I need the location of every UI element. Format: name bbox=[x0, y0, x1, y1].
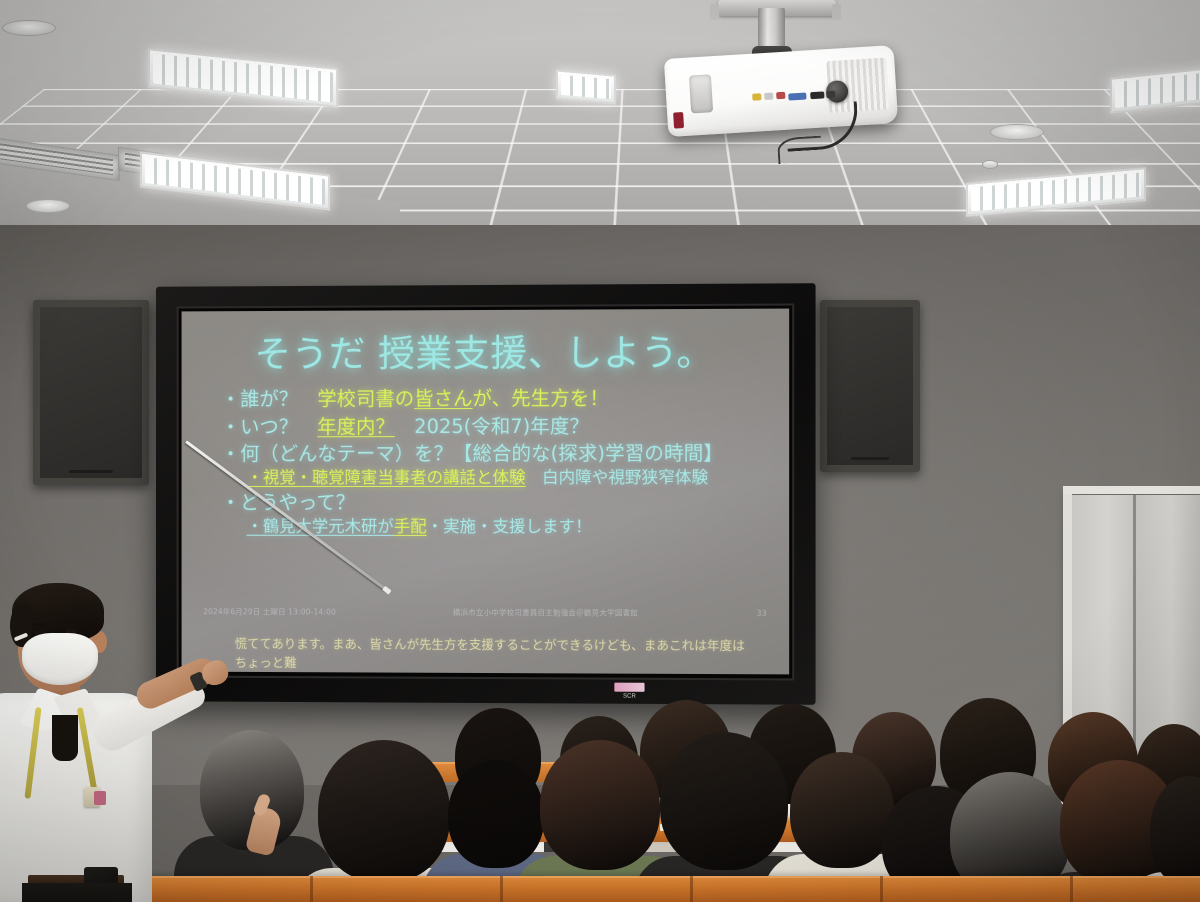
presenter-face-mask bbox=[22, 633, 98, 685]
slide-bullet-how: ・どうやって？ bbox=[221, 489, 771, 516]
audience-head bbox=[448, 760, 544, 868]
bullet-segment: 2025(令和7)年度？ bbox=[395, 414, 589, 437]
slide-bullet-who: ・誰が？ 学校司書の皆さんが、先生方を！ bbox=[221, 384, 771, 413]
projector-mount-arm-left bbox=[710, 4, 719, 20]
audience-head bbox=[540, 740, 660, 870]
door-header bbox=[1063, 486, 1200, 494]
ceiling-grid-line-h bbox=[21, 106, 1200, 107]
ceiling-downlight-1 bbox=[2, 20, 56, 36]
live-caption-text: 慌ててあります。まあ、皆さんが先生方を支援することができるけども、まあこれは年度… bbox=[235, 634, 749, 674]
slide-page-number: 33 bbox=[757, 609, 767, 618]
lecture-hall-scene: そうだ 授業支援、しよう。 ・誰が？ 学校司書の皆さんが、先生方を！・いつ？ 年… bbox=[0, 0, 1200, 902]
slide-title: そうだ 授業支援、しよう。 bbox=[199, 333, 771, 374]
bullet-segment: ・どうやって？ bbox=[221, 491, 355, 514]
bullet-segment: ・誰が？ bbox=[221, 388, 317, 411]
bullet-segment: 学校司書の bbox=[317, 387, 414, 410]
projector-cable-loop bbox=[777, 136, 823, 165]
ceiling-light-panel-3 bbox=[556, 69, 616, 104]
wall-speaker-right bbox=[820, 300, 920, 472]
port-video bbox=[752, 93, 761, 101]
audience-head bbox=[790, 752, 894, 868]
bullet-segment: ・何（どんなテーマ）を？【総合的な(探求)学習の時間】 bbox=[221, 441, 723, 465]
wall-speaker-left bbox=[33, 300, 149, 485]
bullet-segment: ・視覚・聴覚障害当事者の講話と体験 bbox=[247, 468, 526, 487]
ceiling-projector bbox=[640, 0, 940, 160]
port-vga bbox=[788, 92, 806, 100]
bullet-segment: 年度内？ bbox=[317, 415, 394, 438]
desk-seam bbox=[310, 876, 313, 902]
slide-bullet-what-sub: ・視覚・聴覚障害当事者の講話と体験 白内障や視野狭窄体験 bbox=[221, 467, 771, 489]
ceiling-downlight-3 bbox=[990, 124, 1044, 140]
port-usb bbox=[826, 91, 835, 99]
desk-seam bbox=[880, 876, 883, 902]
port-hdmi bbox=[810, 91, 824, 99]
ceiling-downlight-2 bbox=[26, 199, 70, 213]
desk-seam bbox=[1070, 876, 1073, 902]
presenter-badge-accent bbox=[94, 791, 106, 805]
ceiling bbox=[0, 0, 1200, 232]
bullet-segment: ・いつ？ bbox=[221, 415, 317, 438]
port-audio-r bbox=[776, 92, 785, 100]
desk-seam bbox=[690, 876, 693, 902]
projection-screen-surface: そうだ 授業支援、しよう。 ・誰が？ 学校司書の皆さんが、先生方を！・いつ？ 年… bbox=[182, 309, 790, 675]
bullet-segment: 皆さん bbox=[414, 387, 472, 410]
projector-body bbox=[664, 45, 898, 137]
desk-seam bbox=[500, 876, 503, 902]
bullet-segment: 手配 bbox=[394, 517, 427, 536]
slide-bullet-what: ・何（どんなテーマ）を？【総合的な(探求)学習の時間】 bbox=[221, 439, 771, 467]
slide-footer-event: 横浜市立小中学校司書員自主勉強会＠鶴見大学図書館 bbox=[453, 607, 638, 619]
bullet-segment: ・鶴見大学元木研が bbox=[247, 517, 394, 536]
presenter-shirt-placket bbox=[52, 715, 78, 761]
slide-footer: 2024年6月29日 土曜日 13:00-14:00 横浜市立小中学校司書員自主… bbox=[203, 606, 767, 619]
projector-lens-icon bbox=[689, 74, 713, 113]
ceiling-grid-line-h bbox=[0, 142, 1200, 143]
bullet-segment: が、先生方を！ bbox=[473, 387, 609, 410]
projector-ir-sensor-icon bbox=[673, 112, 684, 129]
audience-head bbox=[660, 732, 788, 870]
port-audio-l bbox=[764, 92, 773, 100]
presenter-trousers bbox=[22, 883, 132, 902]
bullet-segment: 実施・支援 bbox=[443, 517, 525, 536]
presenter-brow-left bbox=[32, 623, 46, 626]
bullet-segment: します！ bbox=[526, 517, 592, 536]
projector-mount-arm-right bbox=[832, 4, 841, 20]
presenter-brow-right bbox=[64, 621, 78, 624]
audience-head bbox=[318, 740, 450, 882]
presenter bbox=[0, 575, 258, 902]
slide-bullet-when: ・いつ？ 年度内？ 2025(令和7)年度？ bbox=[221, 412, 771, 440]
bullet-segment: ・ bbox=[427, 517, 443, 536]
smoke-detector-icon bbox=[982, 160, 998, 169]
bullet-segment: 白内障や視野狭窄体験 bbox=[526, 468, 709, 487]
presentation-slide: そうだ 授業支援、しよう。 ・誰が？ 学校司書の皆さんが、先生方を！・いつ？ 年… bbox=[182, 309, 790, 675]
